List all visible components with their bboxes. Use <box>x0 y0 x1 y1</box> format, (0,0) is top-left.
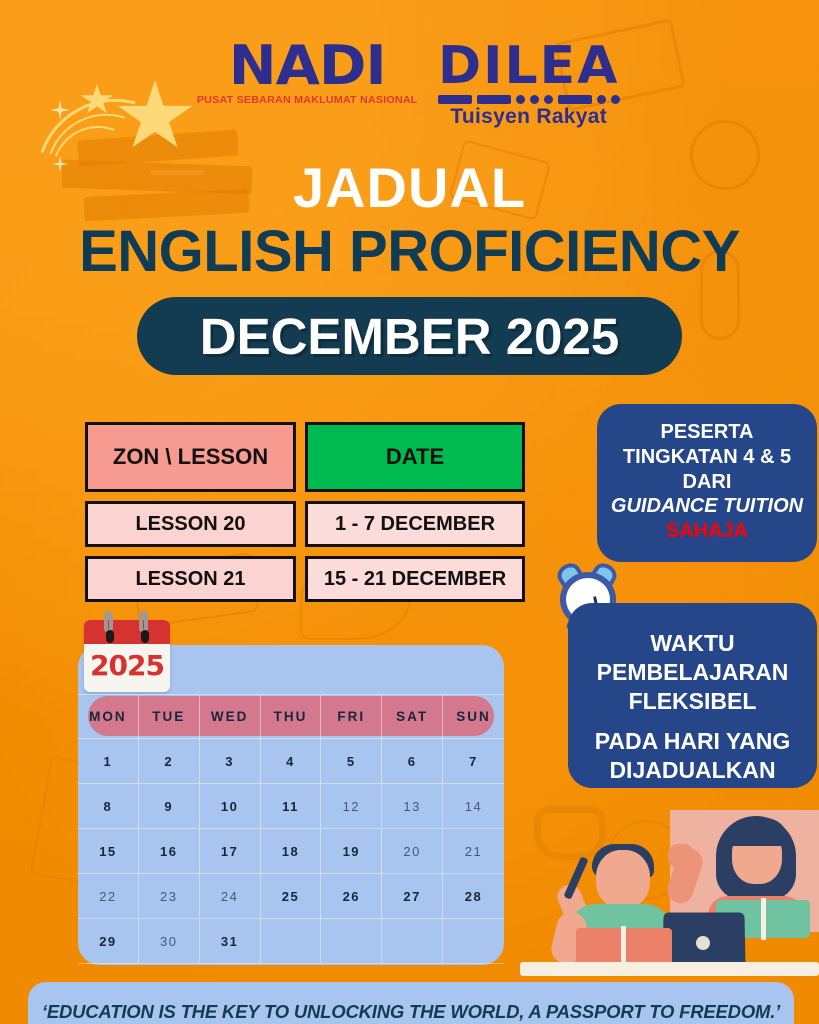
calendar-rings <box>84 620 170 692</box>
calendar-day-header: MON <box>78 694 139 739</box>
info-box-flexible-time: WAKTU PEMBELAJARAN FLEKSIBEL PADA HARI Y… <box>568 603 817 788</box>
table-cell-date: 15 - 21 DECEMBER <box>305 556 525 602</box>
calendar-date-cell[interactable]: 2 <box>139 739 200 784</box>
calendar-date-cell[interactable]: 30 <box>139 919 200 964</box>
calendar-day-header: FRI <box>321 694 382 739</box>
info-box-participants: PESERTA TINGKATAN 4 & 5 DARI GUIDANCE TU… <box>597 404 817 562</box>
calendar-week-row: 293031 <box>78 919 504 964</box>
calendar-date-cell[interactable]: 31 <box>200 919 261 964</box>
calendar-date-cell[interactable]: 28 <box>443 874 504 919</box>
calendar-header-row: MONTUEWEDTHUFRISATSUN <box>78 694 504 739</box>
calendar-date-cell[interactable]: 29 <box>78 919 139 964</box>
calendar-date-cell[interactable]: 9 <box>139 784 200 829</box>
heading-jadual: JADUAL <box>0 155 819 220</box>
calendar-week-row: 1234567 <box>78 739 504 784</box>
dilea-dash-row <box>438 95 620 104</box>
info-line: DARI <box>607 470 807 495</box>
info-line-highlight: SAHAJA <box>607 519 807 544</box>
table-cell-lesson: LESSON 20 <box>85 501 296 547</box>
footer-quote-banner: ‘EDUCATION IS THE KEY TO UNLOCKING THE W… <box>28 982 794 1024</box>
footer-quote-text: ‘EDUCATION IS THE KEY TO UNLOCKING THE W… <box>42 1001 780 1023</box>
info-line: TINGKATAN 4 & 5 <box>607 445 807 470</box>
table-header-row: ZON \ LESSON DATE <box>85 422 525 492</box>
table-header-zone: ZON \ LESSON <box>85 422 296 492</box>
dilea-tagline: Tuisyen Rakyat <box>438 105 620 129</box>
calendar-day-header: WED <box>200 694 261 739</box>
calendar-week-row: 15161718192021 <box>78 829 504 874</box>
calendar-date-cell[interactable]: 4 <box>261 739 322 784</box>
calendar-date-cell[interactable]: 21 <box>443 829 504 874</box>
calendar-date-cell[interactable]: 27 <box>382 874 443 919</box>
heading-subject: ENGLISH PROFICIENCY <box>0 218 819 285</box>
calendar-date-cell[interactable] <box>261 919 322 964</box>
nadi-wordmark: NADI <box>193 40 422 91</box>
calendar-date-cell[interactable]: 24 <box>200 874 261 919</box>
students-studying-illustration <box>520 800 819 990</box>
table-row: LESSON 20 1 - 7 DECEMBER <box>85 501 525 547</box>
calendar-widget: MONTUEWEDTHUFRISATSUN1234567891011121314… <box>78 645 504 965</box>
calendar-week-row: 22232425262728 <box>78 874 504 919</box>
calendar-grid: MONTUEWEDTHUFRISATSUN1234567891011121314… <box>78 694 504 964</box>
table-header-date: DATE <box>305 422 525 492</box>
calendar-date-cell[interactable]: 14 <box>443 784 504 829</box>
calendar-date-cell[interactable] <box>443 919 504 964</box>
table-row: LESSON 21 15 - 21 DECEMBER <box>85 556 525 602</box>
calendar-date-cell[interactable] <box>321 919 382 964</box>
calendar-day-header: SAT <box>382 694 443 739</box>
calendar-day-header: THU <box>261 694 322 739</box>
calendar-date-cell[interactable]: 16 <box>139 829 200 874</box>
month-pill-label: DECEMBER 2025 <box>200 307 619 366</box>
nadi-tagline: PUSAT SEBARAN MAKLUMAT NASIONAL <box>197 94 418 106</box>
info-line: DIJADUALKAN <box>580 756 805 785</box>
calendar-date-cell[interactable]: 17 <box>200 829 261 874</box>
calendar-date-cell[interactable] <box>382 919 443 964</box>
calendar-date-cell[interactable]: 13 <box>382 784 443 829</box>
info-line: PADA HARI YANG <box>580 727 805 756</box>
calendar-day-header: TUE <box>139 694 200 739</box>
calendar-date-cell[interactable]: 15 <box>78 829 139 874</box>
schedule-table: ZON \ LESSON DATE LESSON 20 1 - 7 DECEMB… <box>85 422 525 611</box>
calendar-date-cell[interactable]: 8 <box>78 784 139 829</box>
calendar-date-cell[interactable]: 23 <box>139 874 200 919</box>
calendar-date-cell[interactable]: 11 <box>261 784 322 829</box>
calendar-date-cell[interactable]: 20 <box>382 829 443 874</box>
calendar-date-cell[interactable]: 1 <box>78 739 139 784</box>
calendar-date-cell[interactable]: 25 <box>261 874 322 919</box>
dilea-logo: DILEA Tuisyen Rakyat <box>438 40 620 129</box>
calendar-date-cell[interactable]: 18 <box>261 829 322 874</box>
info-line: FLEKSIBEL <box>580 687 805 716</box>
calendar-week-row: 891011121314 <box>78 784 504 829</box>
calendar-date-cell[interactable]: 26 <box>321 874 382 919</box>
calendar-day-header: SUN <box>443 694 504 739</box>
nadi-logo: NADI PUSAT SEBARAN MAKLUMAT NASIONAL <box>199 40 415 106</box>
dilea-wordmark: DILEA <box>438 42 620 91</box>
calendar-date-cell[interactable]: 5 <box>321 739 382 784</box>
calendar-date-cell[interactable]: 22 <box>78 874 139 919</box>
month-pill: DECEMBER 2025 <box>137 297 682 375</box>
calendar-date-cell[interactable]: 7 <box>443 739 504 784</box>
calendar-date-cell[interactable]: 10 <box>200 784 261 829</box>
info-line-emphasis: GUIDANCE TUITION <box>607 494 807 519</box>
calendar-date-cell[interactable]: 12 <box>321 784 382 829</box>
table-cell-lesson: LESSON 21 <box>85 556 296 602</box>
calendar-date-cell[interactable]: 6 <box>382 739 443 784</box>
info-line: WAKTU <box>580 629 805 658</box>
poster-canvas: NADI PUSAT SEBARAN MAKLUMAT NASIONAL DIL… <box>0 0 819 1024</box>
calendar-date-cell[interactable]: 19 <box>321 829 382 874</box>
info-line: PESERTA <box>607 420 807 445</box>
info-line: PEMBELAJARAN <box>580 658 805 687</box>
logo-row: NADI PUSAT SEBARAN MAKLUMAT NASIONAL DIL… <box>0 40 819 129</box>
table-cell-date: 1 - 7 DECEMBER <box>305 501 525 547</box>
calendar-date-cell[interactable]: 3 <box>200 739 261 784</box>
